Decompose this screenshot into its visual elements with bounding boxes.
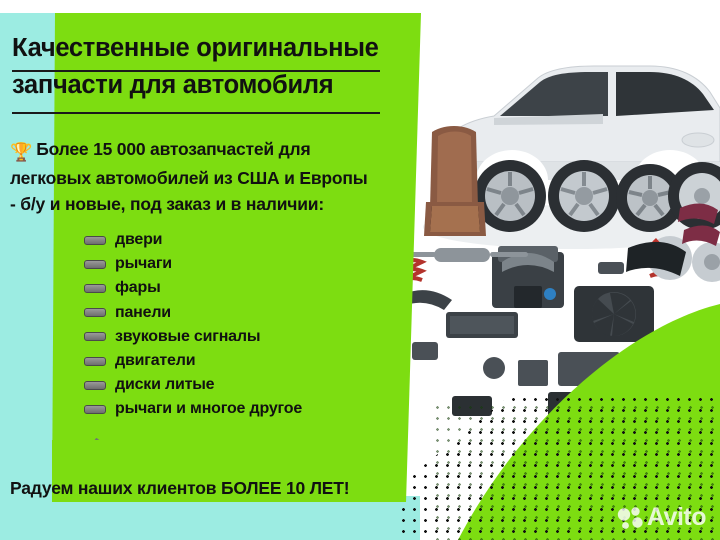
list-item: рычаги и многое другое [84, 397, 302, 421]
list-item: диски литые [84, 373, 302, 397]
dash-bullet-icon [84, 405, 106, 414]
subtitle-line-2: легковых автомобилей из США и Европы [10, 165, 410, 191]
headline-line-2: запчасти для автомобиля [12, 67, 404, 104]
avito-wordmark: Avito [647, 505, 706, 530]
dash-bullet-icon [84, 236, 106, 245]
dash-bullet-icon [84, 284, 106, 293]
page-title: Качественные оригинальные запчасти для а… [12, 30, 404, 104]
headline-rule-1 [12, 70, 380, 72]
trophy-icon: 🏆 [10, 139, 32, 165]
dash-bullet-icon [84, 260, 106, 269]
list-item: двигатели [84, 349, 302, 373]
advertisement-poster: Качественные оригинальные запчасти для а… [0, 0, 720, 540]
dash-bullet-icon [84, 381, 106, 390]
list-item-label: рычаги и многое другое [115, 400, 302, 418]
subtitle-line-1: 🏆Более 15 000 автозапчастей для [10, 136, 410, 165]
list-item-label: панели [115, 304, 171, 322]
headline-line-1: Качественные оригинальные [12, 30, 404, 67]
list-item: двери [84, 228, 302, 252]
headline-rule-2 [12, 112, 380, 114]
dash-bullet-icon [84, 332, 106, 341]
avito-logo-icon [617, 506, 643, 530]
list-item-label: двигатели [115, 352, 195, 370]
parts-list: двери рычаги фары панели звуковые сигнал… [84, 228, 302, 422]
dash-bullet-icon [84, 308, 106, 317]
dash-bullet-icon [84, 357, 106, 366]
green-curve-decoration [400, 280, 720, 540]
avito-watermark: Avito [617, 505, 706, 530]
list-item: фары [84, 276, 302, 300]
list-item-label: двери [115, 231, 162, 249]
subtitle: 🏆Более 15 000 автозапчастей для легковых… [10, 136, 410, 217]
list-item-label: рычаги [115, 255, 172, 273]
list-item: звуковые сигналы [84, 325, 302, 349]
list-item-label: звуковые сигналы [115, 328, 260, 346]
list-item: панели [84, 301, 302, 325]
subtitle-line-3: - б/у и новые, под заказ и в наличии: [10, 191, 410, 217]
subtitle-text-1: Более 15 000 автозапчастей для [36, 139, 310, 159]
tagline: Радуем наших клиентов БОЛЕЕ 10 ЛЕТ! [10, 478, 349, 499]
cyan-bottom-background [0, 496, 420, 540]
list-item: рычаги [84, 252, 302, 276]
list-item-label: диски литые [115, 376, 214, 394]
list-item-label: фары [115, 279, 161, 297]
